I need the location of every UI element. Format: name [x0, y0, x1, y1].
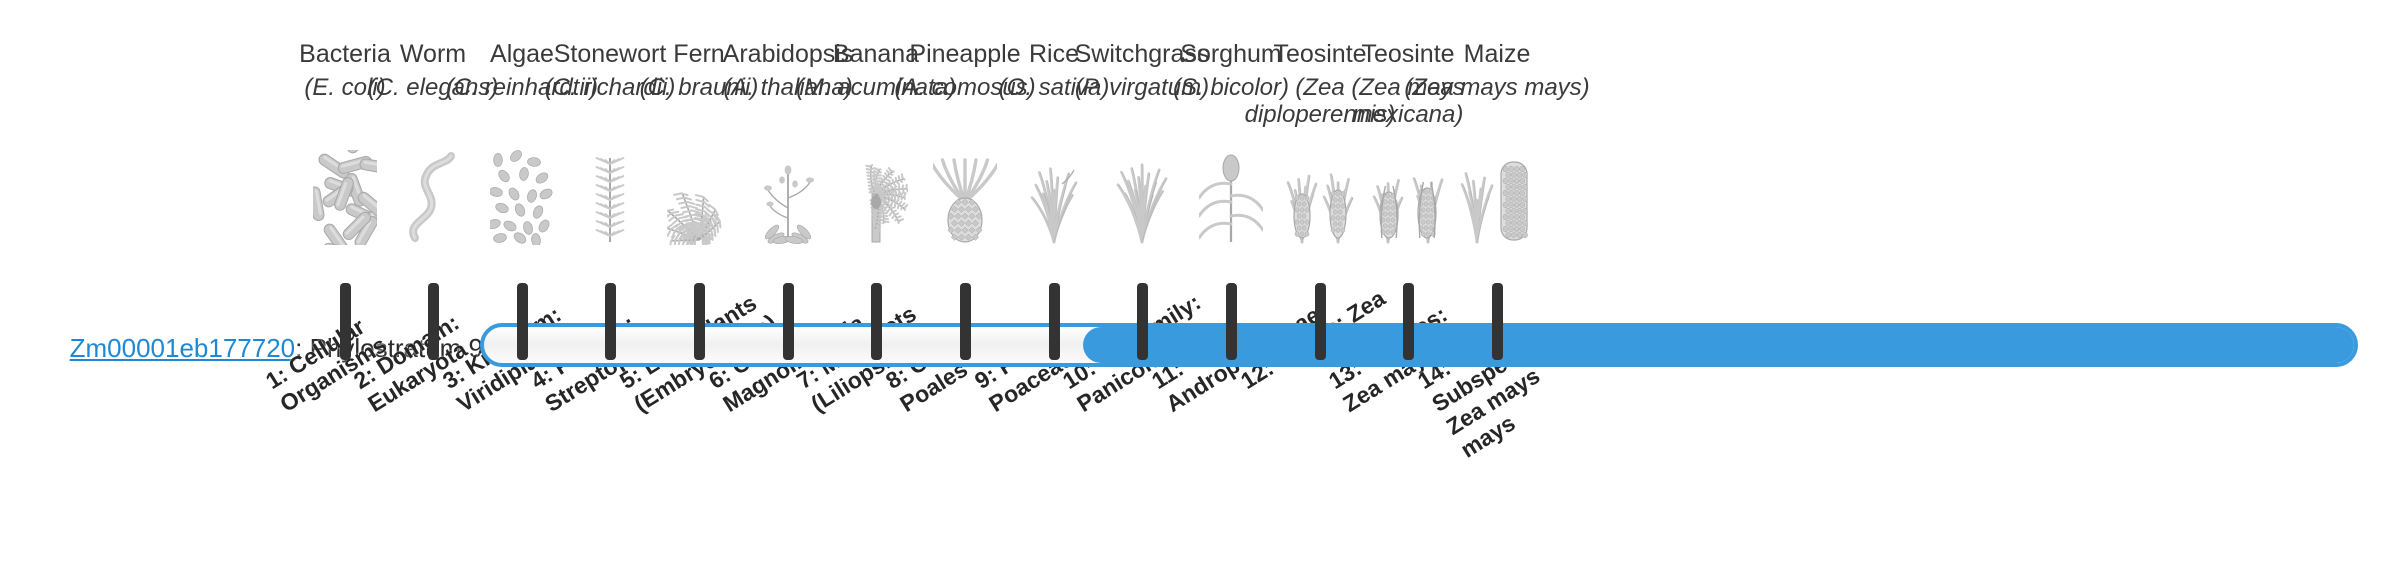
stratum-tick[interactable]: [694, 283, 705, 360]
stratum-tick[interactable]: [1403, 283, 1414, 360]
stratum-tick[interactable]: [340, 283, 351, 360]
stratum-tick[interactable]: [871, 283, 882, 360]
stratum-tick[interactable]: [960, 283, 971, 360]
species-latin-name: (Zea mays mays): [1402, 74, 1592, 101]
stratum-tick[interactable]: [1226, 283, 1237, 360]
stratum-tick[interactable]: [517, 283, 528, 360]
stratum-tick[interactable]: [605, 283, 616, 360]
maize-illustration: [1402, 150, 1592, 245]
phylostratigraphy-timeline: Zm00001eb177720: Phylostratum 9 Bacteria…: [0, 0, 2400, 580]
stratum-tick[interactable]: [1492, 283, 1503, 360]
phylostratum-progress-fill: [1083, 327, 2354, 363]
stratum-tick[interactable]: [428, 283, 439, 360]
species-common-name: Maize: [1402, 40, 1592, 68]
stratum-tick[interactable]: [1137, 283, 1148, 360]
gene-id-link[interactable]: Zm00001eb177720: [70, 333, 296, 363]
taxonomy-rank-label: 14: Subspecies: Zea mays mays: [1402, 372, 1592, 480]
stratum-tick[interactable]: [1315, 283, 1326, 360]
stratum-tick[interactable]: [783, 283, 794, 360]
phylostratum-progress-track[interactable]: [480, 323, 2358, 367]
stratum-tick[interactable]: [1049, 283, 1060, 360]
